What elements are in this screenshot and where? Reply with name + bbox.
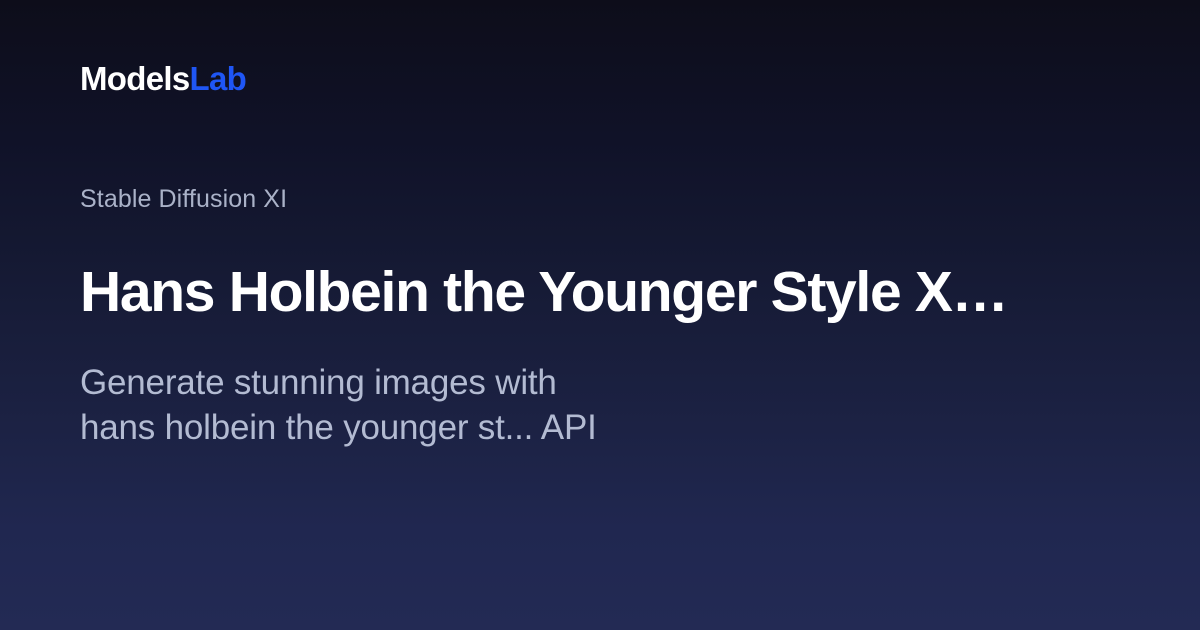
open-graph-card: Models Lab Stable Diffusion XI Hans Holb… <box>0 0 1200 630</box>
description-line-1: Generate stunning images with <box>80 360 1120 406</box>
brand-name-primary: Models <box>80 62 189 95</box>
brand-name-accent: Lab <box>189 62 246 95</box>
modelslab-logo[interactable]: Models Lab <box>80 62 246 95</box>
card-content: Stable Diffusion XI Hans Holbein the You… <box>80 184 1120 451</box>
description-line-2: hans holbein the younger st... API <box>80 405 1120 451</box>
model-category-label: Stable Diffusion XI <box>80 184 1120 215</box>
page-title: Hans Holbein the Younger Style X… <box>80 261 1120 324</box>
page-description: Generate stunning images with hans holbe… <box>80 360 1120 451</box>
